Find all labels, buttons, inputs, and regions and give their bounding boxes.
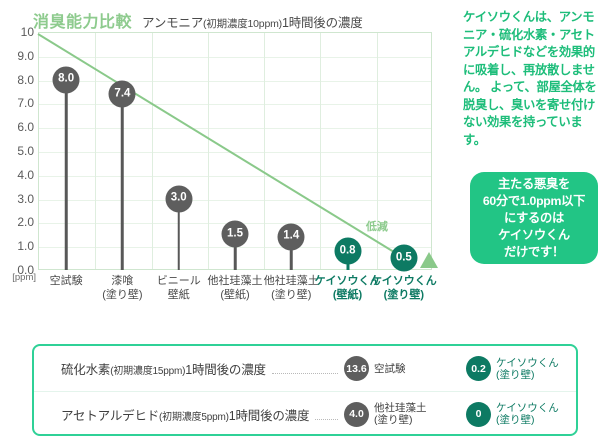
page-title: 消臭能力比較 bbox=[33, 8, 132, 32]
trend-arrow-icon bbox=[420, 252, 438, 268]
data-point-marker: 1.4 bbox=[278, 223, 305, 250]
x-axis-label-line2: (塗り壁) bbox=[366, 288, 442, 302]
data-point-marker: 0.8 bbox=[334, 237, 361, 264]
grid-line-horizontal bbox=[39, 200, 431, 201]
table-label-main: 硫化水素 bbox=[61, 363, 110, 377]
table-stat-name: 空試験 bbox=[374, 363, 406, 375]
x-axis-label-line1: ケイソウくん bbox=[366, 274, 442, 288]
bar-stem bbox=[121, 94, 124, 270]
chart-subtitle-tail: 1時間後の濃度 bbox=[282, 16, 363, 30]
table-stat-name-line1: 空試験 bbox=[374, 363, 406, 375]
y-axis-tick-label: 1.0 bbox=[4, 239, 34, 253]
side-description: ケイソウくんは、アンモニア・硫化水素・アセトアルデヒドなどを効果的に吸着し、再放… bbox=[463, 9, 603, 149]
table-label-paren: (初期濃度15ppm) bbox=[110, 366, 185, 377]
grid-line-vertical bbox=[264, 33, 265, 269]
y-axis-tick-label: 5.0 bbox=[4, 144, 34, 158]
table-stat-value: 0 bbox=[466, 402, 491, 427]
table-row: 硫化水素(初期濃度15ppm)1時間後の濃度13.6空試験0.2ケイソウくん(塗… bbox=[34, 346, 576, 391]
grid-line-horizontal bbox=[39, 104, 431, 105]
data-point-marker: 1.5 bbox=[222, 221, 249, 248]
table-stat: 4.0他社珪藻土(塗り壁) bbox=[344, 402, 452, 427]
grid-line-vertical bbox=[208, 33, 209, 269]
table-stat-name-line1: ケイソウくん bbox=[496, 357, 559, 369]
table-stat: 0.2ケイソウくん(塗り壁) bbox=[466, 356, 562, 381]
chart-header: 消臭能力比較 アンモニア(初期濃度10ppm)1時間後の濃度 bbox=[33, 8, 363, 32]
table-stat-value: 0.2 bbox=[466, 356, 491, 381]
table-label-paren: (初期濃度5ppm) bbox=[159, 412, 229, 423]
grid-line-horizontal bbox=[39, 128, 431, 129]
data-point-marker: 3.0 bbox=[165, 185, 192, 212]
chart-subtitle-main: アンモニア bbox=[142, 16, 203, 30]
table-row-label: 硫化水素(初期濃度15ppm)1時間後の濃度 bbox=[61, 359, 266, 378]
table-stat-value: 4.0 bbox=[344, 402, 369, 427]
summary-table: 硫化水素(初期濃度15ppm)1時間後の濃度13.6空試験0.2ケイソウくん(塗… bbox=[32, 344, 578, 436]
table-row: アセトアルデヒド(初期濃度5ppm)1時間後の濃度4.0他社珪藻土(塗り壁)0ケ… bbox=[34, 391, 576, 436]
callout-line: だけです！ bbox=[504, 244, 564, 261]
chart-plot-area: 低減 8.07.43.01.51.40.80.5 bbox=[38, 32, 432, 270]
callout-line: ケイソウくん bbox=[498, 227, 570, 244]
data-point-marker: 0.5 bbox=[390, 245, 417, 272]
table-stat-name-line2: (塗り壁) bbox=[496, 414, 559, 426]
table-stat-name: 他社珪藻土(塗り壁) bbox=[374, 402, 427, 426]
table-stat-value: 13.6 bbox=[344, 356, 369, 381]
data-point-marker: 8.0 bbox=[53, 66, 80, 93]
leader-dots bbox=[272, 373, 338, 374]
table-label-tail: 1時間後の濃度 bbox=[229, 409, 310, 423]
y-axis-tick-label: 2.0 bbox=[4, 215, 34, 229]
y-axis-tick-label: 4.0 bbox=[4, 168, 34, 182]
table-stat-name-line1: ケイソウくん bbox=[496, 402, 559, 414]
grid-line-vertical bbox=[320, 33, 321, 269]
callout-line: にするのは bbox=[504, 210, 564, 227]
grid-line-horizontal bbox=[39, 57, 431, 58]
grid-line-vertical bbox=[152, 33, 153, 269]
chart-subtitle: アンモニア(初期濃度10ppm)1時間後の濃度 bbox=[142, 12, 362, 31]
table-stat-name-line2: (塗り壁) bbox=[496, 369, 559, 381]
y-axis-tick-label: 3.0 bbox=[4, 192, 34, 206]
table-label-tail: 1時間後の濃度 bbox=[185, 363, 266, 377]
y-axis: 109.08.07.06.05.04.03.02.01.00.0 bbox=[0, 32, 34, 270]
y-axis-tick-label: 10 bbox=[4, 25, 34, 39]
bar-stem bbox=[65, 80, 68, 270]
y-axis-tick-label: 7.0 bbox=[4, 96, 34, 110]
chart-subtitle-paren: (初期濃度10ppm) bbox=[203, 18, 282, 30]
table-row-label: アセトアルデヒド(初期濃度5ppm)1時間後の濃度 bbox=[61, 405, 309, 424]
table-stat: 13.6空試験 bbox=[344, 356, 452, 381]
table-stat-name: ケイソウくん(塗り壁) bbox=[496, 402, 559, 426]
y-axis-tick-label: 9.0 bbox=[4, 49, 34, 63]
trend-line-label: 低減 bbox=[366, 218, 388, 234]
leader-dots bbox=[315, 419, 338, 420]
grid-line-horizontal bbox=[39, 81, 431, 82]
callout-line: 主たる悪臭を bbox=[498, 176, 570, 193]
callout-line: 60分で1.0ppm以下 bbox=[483, 193, 585, 210]
grid-line-horizontal bbox=[39, 152, 431, 153]
data-point-marker: 7.4 bbox=[109, 80, 136, 107]
x-axis-category-label: ケイソウくん(塗り壁) bbox=[366, 274, 442, 302]
x-axis: 空試験漆喰(塗り壁)ビニール壁紙他社珪藻土(壁紙)他社珪藻土(塗り壁)ケイソウく… bbox=[38, 274, 432, 316]
grid-line-horizontal bbox=[39, 176, 431, 177]
table-stat-name: ケイソウくん(塗り壁) bbox=[496, 357, 559, 381]
grid-line-vertical bbox=[95, 33, 96, 269]
table-label-main: アセトアルデヒド bbox=[61, 409, 159, 423]
table-stat-name-line2: (塗り壁) bbox=[374, 414, 427, 426]
table-stat: 0ケイソウくん(塗り壁) bbox=[466, 402, 562, 427]
y-axis-tick-label: 8.0 bbox=[4, 73, 34, 87]
callout-box: 主たる悪臭を60分で1.0ppm以下にするのはケイソウくんだけです！ bbox=[470, 172, 598, 264]
table-stat-name-line1: 他社珪藻土 bbox=[374, 402, 427, 414]
y-axis-tick-label: 6.0 bbox=[4, 120, 34, 134]
